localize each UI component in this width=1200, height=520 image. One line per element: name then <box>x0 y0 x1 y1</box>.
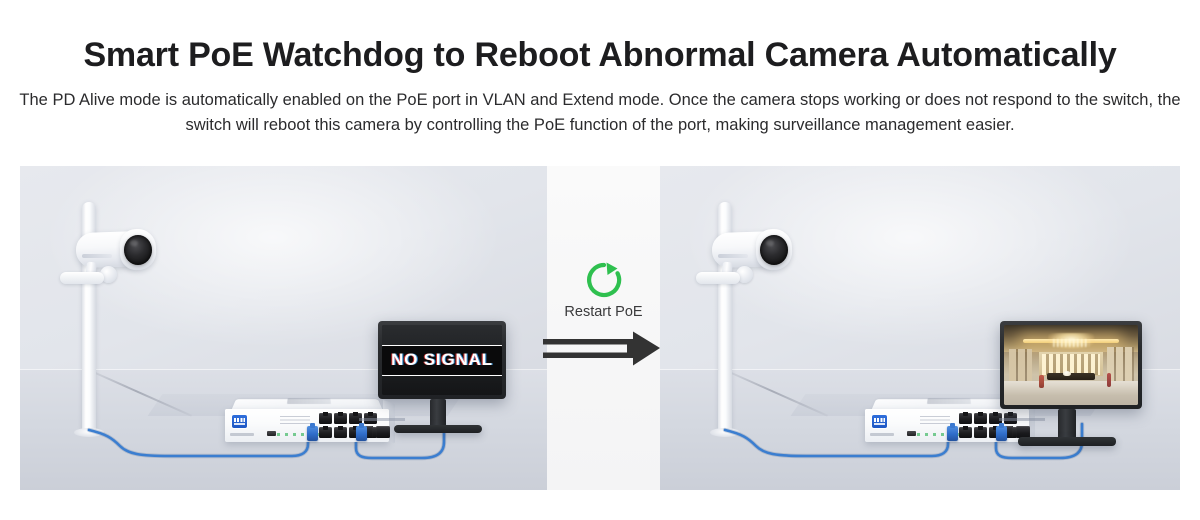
camera-pole-bracket <box>60 272 104 284</box>
page-subtitle: The PD Alive mode is automatically enabl… <box>14 88 1186 138</box>
rj45-port[interactable] <box>319 427 332 438</box>
feed-person <box>1107 373 1111 387</box>
no-signal-screen: NO SIGNAL <box>382 325 502 395</box>
camera-lens-icon <box>760 235 788 265</box>
rj45-port[interactable] <box>974 427 987 438</box>
uplink-label <box>999 418 1045 421</box>
uplink-port[interactable] <box>376 426 390 438</box>
restart-poe-label: Restart PoE <box>547 304 660 320</box>
monitor-screen <box>1004 325 1138 405</box>
rj45-port[interactable] <box>959 427 972 438</box>
rj45-plug-camera <box>947 426 958 441</box>
uplink-label <box>359 418 405 421</box>
monitor-screen: NO SIGNAL <box>382 325 502 395</box>
poe-watchdog-feature-graphic: Smart PoE Watchdog to Reboot Abnormal Ca… <box>0 0 1200 520</box>
no-signal-text: NO SIGNAL <box>391 350 493 370</box>
rj45-port[interactable] <box>334 413 347 424</box>
camera-body-seam <box>82 254 112 258</box>
feed-left-column <box>1009 349 1032 384</box>
switch-mode-button[interactable] <box>907 431 916 436</box>
monitor-bezel: NO SIGNAL <box>378 321 506 399</box>
feed-reception-desk <box>1047 373 1095 380</box>
rj45-port[interactable] <box>334 427 347 438</box>
feed-wall-slats <box>1042 354 1101 375</box>
switch-top-branding <box>287 398 331 404</box>
switch-top-branding <box>927 398 971 404</box>
restart-poe-refresh-icon <box>582 258 626 302</box>
switch-model-text <box>230 433 254 436</box>
camera-lens-icon <box>124 235 152 265</box>
monitor-base <box>394 425 482 433</box>
feed-person <box>1039 375 1044 389</box>
before-state-panel: NO SIGNAL <box>20 166 547 490</box>
feed-marble-floor <box>1004 381 1138 405</box>
brand-badge-icon <box>232 415 247 428</box>
process-arrow-icon <box>541 330 663 372</box>
brand-badge-icon <box>872 415 887 428</box>
rj45-plug-uplink <box>356 426 367 441</box>
camera-body-seam <box>718 254 748 258</box>
transition-column: Restart PoE <box>547 166 660 490</box>
pole-base-shadow <box>710 428 740 437</box>
monitor-neck <box>430 399 446 427</box>
switch-model-text <box>870 433 894 436</box>
feed-chandelier <box>1048 333 1094 349</box>
pole-base-shadow <box>74 428 104 437</box>
monitor-base <box>1018 437 1116 446</box>
after-state-panel <box>660 166 1180 490</box>
rj45-plug-camera <box>307 426 318 441</box>
rj45-port[interactable] <box>974 413 987 424</box>
rj45-port[interactable] <box>959 413 972 424</box>
no-signal-box: NO SIGNAL <box>382 345 502 376</box>
monitor-neck <box>1058 409 1076 439</box>
rj45-plug-uplink <box>996 426 1007 441</box>
switch-port-legend <box>920 416 950 426</box>
page-title: Smart PoE Watchdog to Reboot Abnormal Ca… <box>0 36 1200 75</box>
camera-pole-bracket <box>696 272 740 284</box>
switch-mode-button[interactable] <box>267 431 276 436</box>
rj45-port[interactable] <box>319 413 332 424</box>
feed-flower-arrangement <box>1063 371 1071 377</box>
camera-live-feed-image <box>1004 325 1138 405</box>
monitor-bezel <box>1000 321 1142 409</box>
switch-port-legend <box>280 416 310 426</box>
